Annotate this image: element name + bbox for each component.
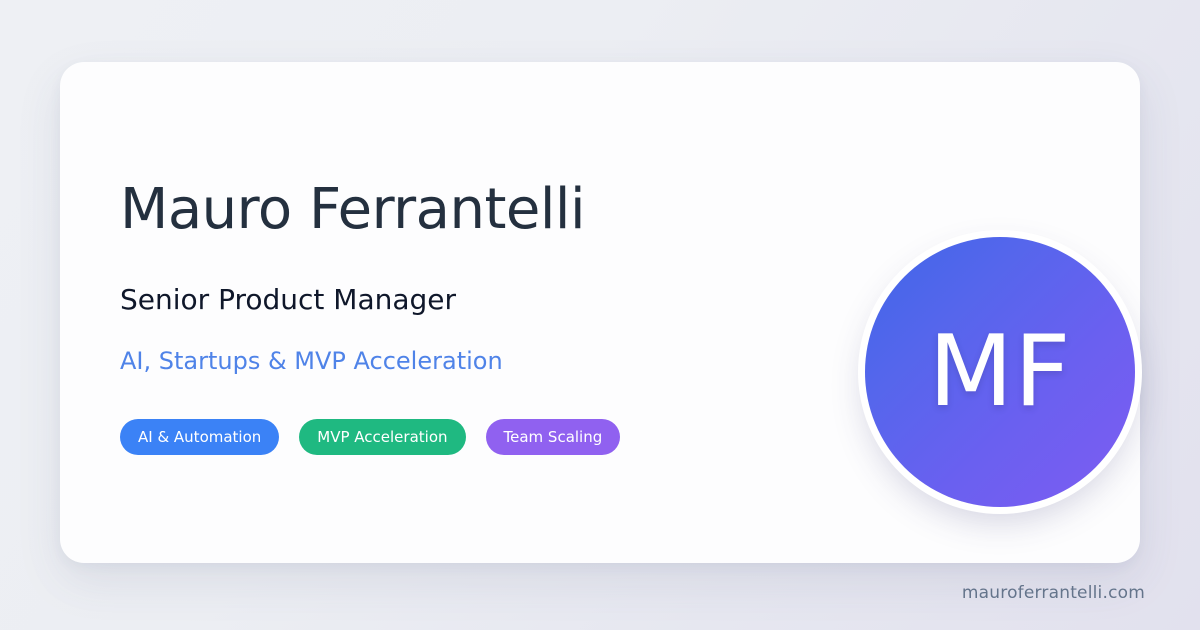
skill-badge-mvp-acceleration[interactable]: MVP Acceleration: [299, 419, 465, 455]
avatar-initials: MF: [929, 323, 1072, 421]
footer-website-url: mauroferrantelli.com: [962, 585, 1145, 602]
profile-card-canvas: Mauro Ferrantelli Senior Product Manager…: [0, 0, 1200, 630]
skill-badge-ai-automation[interactable]: AI & Automation: [120, 419, 279, 455]
avatar: MF: [865, 237, 1135, 507]
profile-text-column: Mauro Ferrantelli Senior Product Manager…: [120, 182, 760, 455]
profile-card: Mauro Ferrantelli Senior Product Manager…: [60, 62, 1140, 563]
skill-badge-team-scaling[interactable]: Team Scaling: [486, 419, 621, 455]
page-title: Mauro Ferrantelli: [120, 182, 760, 238]
skill-badge-list: AI & Automation MVP Acceleration Team Sc…: [120, 419, 760, 455]
profile-tagline: AI, Startups & MVP Acceleration: [120, 349, 760, 373]
profile-role: Senior Product Manager: [120, 286, 760, 314]
